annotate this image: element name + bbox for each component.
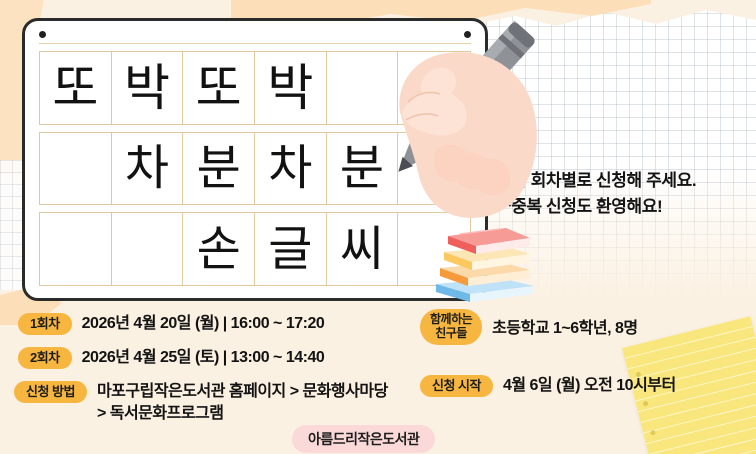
note-line-1: *각 회차별로 신청해 주세요. xyxy=(505,168,755,194)
info-row-apply-start: 신청 시작 4월 6일 (월) 오전 10시부터 xyxy=(420,375,676,397)
grid-row: 또 박 또 박 xyxy=(39,51,471,125)
grid-cell: 씨 xyxy=(327,213,399,285)
grid-cell: 분 xyxy=(327,133,399,205)
badge-target-audience: 함께하는 친구들 xyxy=(420,309,482,345)
badge-target-line1: 함께하는 xyxy=(430,313,472,327)
notes-block: *각 회차별로 신청해 주세요. *중복 신청도 환영해요! xyxy=(505,168,755,221)
grid-row: 차 분 차 분 xyxy=(39,132,471,206)
grid-cell: 차 xyxy=(112,133,184,205)
grid-cell: 차 xyxy=(255,133,327,205)
grid-cell: 또 xyxy=(40,52,112,124)
session2-schedule: 2026년 4월 25일 (토) | 13:00 ~ 14:40 xyxy=(82,347,325,369)
badge-apply-method: 신청 방법 xyxy=(14,381,87,403)
info-row-target: 함께하는 친구들 초등학교 1~6학년, 8명 xyxy=(420,309,638,345)
info-row-apply-method: 신청 방법 마포구립작은도서관 홈페이지 > 문화행사마당 > 독서문화프로그램 xyxy=(14,381,397,424)
session1-schedule: 2026년 4월 20일 (월) | 16:00 ~ 17:20 xyxy=(82,313,325,335)
grid-cell: 박 xyxy=(255,52,327,124)
badge-apply-start: 신청 시작 xyxy=(420,375,493,397)
note-line-2: *중복 신청도 환영해요! xyxy=(505,194,755,220)
grid-cell xyxy=(398,52,470,124)
handwriting-board: 또 박 또 박 차 분 차 분 손 글 씨 xyxy=(22,18,488,301)
stacked-books-illustration xyxy=(430,222,540,307)
board-pin-right-icon xyxy=(464,31,471,38)
board-top-divider xyxy=(39,43,471,44)
grid-cell xyxy=(112,213,184,285)
books-icon xyxy=(430,222,540,307)
info-row-session2: 2회차 2026년 4월 25일 (토) | 13:00 ~ 14:40 xyxy=(18,347,324,369)
grid-row: 손 글 씨 xyxy=(39,212,471,286)
handwriting-grid: 또 박 또 박 차 분 차 분 손 글 씨 xyxy=(39,51,471,286)
grid-cell: 분 xyxy=(183,133,255,205)
grid-cell: 손 xyxy=(183,213,255,285)
grid-cell xyxy=(40,213,112,285)
board-pin-left-icon xyxy=(39,31,46,38)
grid-cell xyxy=(327,52,399,124)
grid-cell xyxy=(40,133,112,205)
target-audience-text: 초등학교 1~6학년, 8명 xyxy=(492,318,637,340)
grid-cell: 또 xyxy=(183,52,255,124)
apply-start-text: 4월 6일 (월) 오전 10시부터 xyxy=(503,375,676,397)
grid-cell: 글 xyxy=(255,213,327,285)
grid-cell xyxy=(398,133,470,205)
badge-target-line2: 친구들 xyxy=(435,327,467,341)
library-name-badge: 아름드리작은도서관 xyxy=(292,425,435,453)
apply-method-text: 마포구립작은도서관 홈페이지 > 문화행사마당 > 독서문화프로그램 xyxy=(97,381,397,424)
badge-session1: 1회차 xyxy=(18,313,72,335)
info-row-session1: 1회차 2026년 4월 20일 (월) | 16:00 ~ 17:20 xyxy=(18,313,324,335)
grid-cell: 박 xyxy=(112,52,184,124)
badge-session2: 2회차 xyxy=(18,347,72,369)
